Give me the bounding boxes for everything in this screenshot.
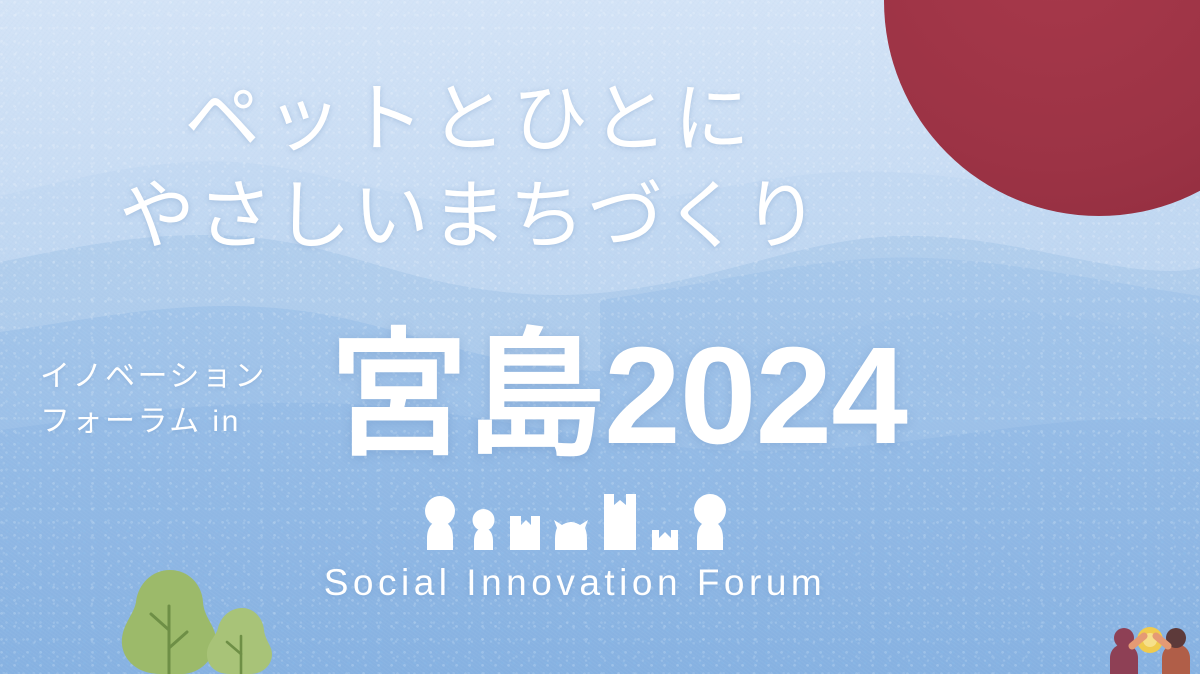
headline-line-2: やさしいまちづくり	[0, 169, 940, 266]
forum-subtitle-line-2: フォーラム in	[40, 399, 330, 445]
highlight-badge: ペットツーリズムから 高齢化対策、 働き方改革など ペット共生ビジネスの ヒント…	[884, 0, 1200, 216]
people-illustration	[1092, 604, 1200, 674]
forum-subtitle-line-1: イノベーション	[40, 354, 330, 400]
headline-group: ペットとひとに やさしいまちづくり	[0, 72, 940, 265]
forum-subtitle: イノベーション フォーラム in	[40, 348, 330, 445]
tree-illustration	[90, 540, 320, 674]
person-small-icon	[469, 508, 498, 550]
poster-canvas: ペットツーリズムから 高齢化対策、 働き方改革など ペット共生ビジネスの ヒント…	[0, 0, 1200, 674]
dog-sitting-icon	[507, 510, 543, 550]
badge-text-group: ペットツーリズムから 高齢化対策、 働き方改革など ペット共生ビジネスの ヒント…	[884, 0, 1200, 198]
headline-line-1: ペットとひとに	[0, 72, 940, 169]
pictogram-row	[0, 492, 1150, 550]
person-large-left-icon	[420, 496, 460, 550]
event-main-title: 宮島2024	[330, 330, 907, 462]
event-title-group: イノベーション フォーラム in 宮島2024	[40, 330, 1160, 462]
cat-sitting-icon	[552, 516, 590, 550]
torii-gate-icon	[599, 494, 641, 550]
small-animal-icon	[650, 520, 680, 550]
badge-line-5: ヒントに!	[884, 0, 1200, 6]
person-large-right-icon	[689, 494, 731, 550]
forum-wordmark: Social Innovation Forum	[0, 562, 1150, 604]
